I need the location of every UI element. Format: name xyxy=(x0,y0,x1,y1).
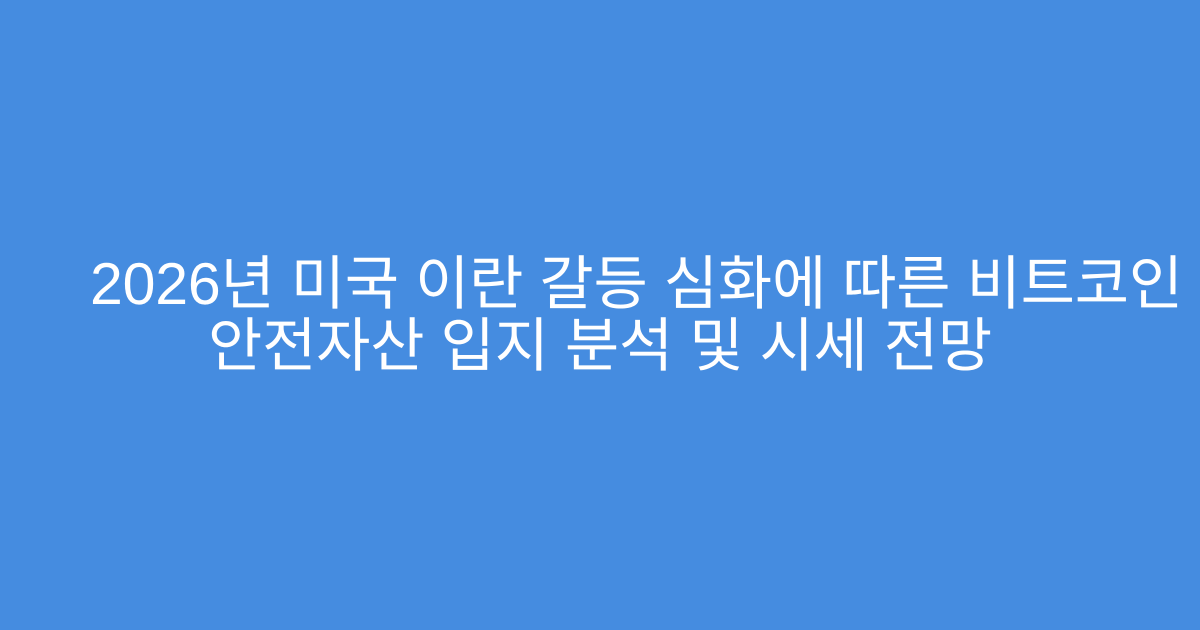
page-title: 2026년 미국 이란 갈등 심화에 따른 비트코인 안전자산 입지 분석 및 … xyxy=(70,253,1130,377)
og-card: 2026년 미국 이란 갈등 심화에 따른 비트코인 안전자산 입지 분석 및 … xyxy=(0,0,1200,630)
title-line-2: 안전자산 입지 분석 및 시세 전망 xyxy=(90,315,1110,377)
title-line-1: 2026년 미국 이란 갈등 심화에 따른 비트코인 xyxy=(90,253,1110,315)
